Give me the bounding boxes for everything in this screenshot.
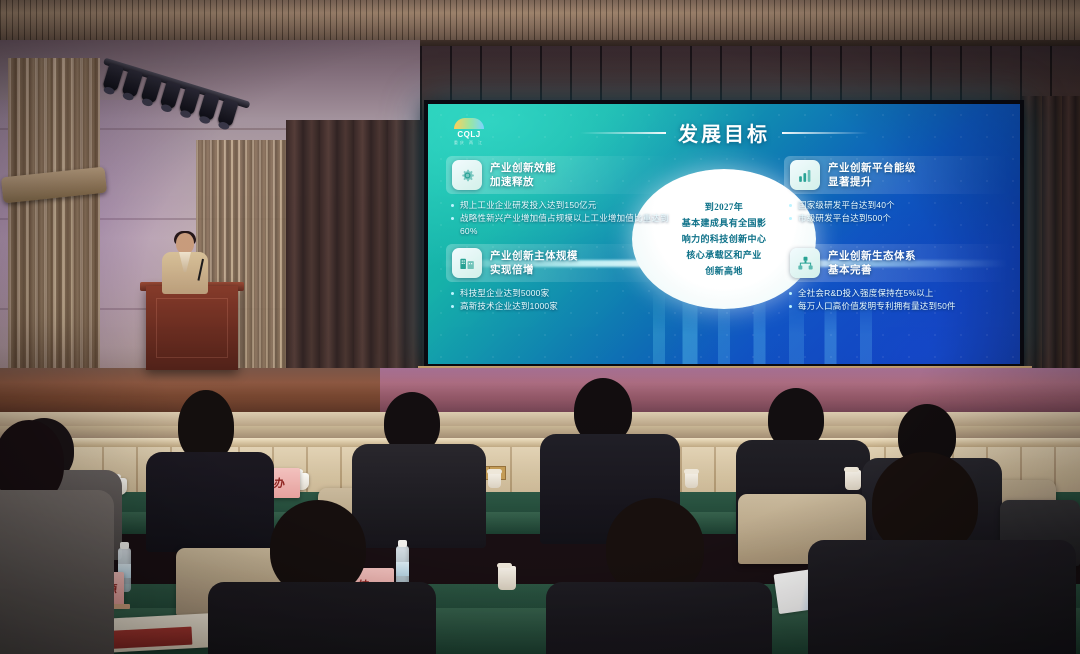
goal-block-2-header: 产业创新主体规模实现倍增 [446,244,670,282]
podium-panel [156,298,228,358]
attendee [560,498,760,654]
goal-block-3-title: 产业创新平台能级显著提升 [828,161,916,189]
attendee-torso [546,582,772,654]
list-item: 市级研发平台达到500个 [788,212,1008,225]
list-item: 规上工业企业研发投入达到150亿元 [450,199,670,212]
cup-lid [684,469,699,474]
cup-lid [497,563,512,568]
dark-drape-right [1022,96,1080,396]
attendee [0,420,120,654]
list-item: 全社会R&D投入强度保持在5%以上 [788,287,1008,300]
gear-icon [452,160,482,190]
speaker-podium [146,286,238,370]
goal-block-2-title: 产业创新主体规模实现倍增 [490,249,578,277]
spotlight-icon [140,75,162,104]
attendee [222,500,422,654]
goal-block-1: 产业创新效能加速释放 规上工业企业研发投入达到150亿元 战略性新兴产业增加值占… [446,156,670,238]
goal-block-1-header: 产业创新效能加速释放 [446,156,670,194]
goal-block-1-bullets: 规上工业企业研发投入达到150亿元 战略性新兴产业增加值占规模以上工业增加值比重… [450,199,670,238]
goal-block-4-header: 产业创新生态体系基本完善 [784,244,1008,282]
page-title: 发展目标 [678,118,770,147]
bar-chart-icon [790,160,820,190]
list-item: 高新技术企业达到1000家 [450,300,670,313]
led-presentation-screen: CQLJ 重庆 两 江 发展目标 到2027年基本建成具有全国影响力的科技创新中… [424,100,1024,368]
attendee [828,452,1058,654]
list-item: 科技型企业达到5000家 [450,287,670,300]
list-item: 每万人口高价值发明专利拥有量达到50件 [788,300,1008,313]
goal-block-3: 产业创新平台能级显著提升 国家级研发平台达到40个 市级研发平台达到500个 [784,156,1008,225]
curtain-folds [8,58,100,388]
stage-curtain-left [8,58,100,388]
goal-block-2: 产业创新主体规模实现倍增 科技型企业达到5000家 高新技术企业达到1000家 [446,244,670,313]
goal-block-1-title: 产业创新效能加速释放 [490,161,556,189]
center-statement-text: 到2027年基本建成具有全国影响力的科技创新中心核心承载区和产业创新高地 [654,199,794,279]
spotlight-icon [179,87,201,116]
spotlight-icon [102,63,124,92]
list-item: 战略性新兴产业增加值占规模以上工业增加值比重达到60% [450,212,670,238]
paper-cup [488,472,501,488]
spotlight-icon [198,92,220,121]
attendee-torso [808,540,1076,654]
building-grid-icon [452,248,482,278]
presenter-at-podium [162,233,208,291]
network-nodes-icon [790,248,820,278]
cup-lid [487,469,502,474]
paper-cup [498,566,516,590]
goal-block-4-bullets: 全社会R&D投入强度保持在5%以上 每万人口高价值发明专利拥有量达到50件 [788,287,1008,313]
goal-block-4: 产业创新生态体系基本完善 全社会R&D投入强度保持在5%以上 每万人口高价值发明… [784,244,1008,313]
list-item: 国家级研发平台达到40个 [788,199,1008,212]
goal-block-4-title: 产业创新生态体系基本完善 [828,249,916,277]
conference-hall-photo: CQLJ 重庆 两 江 发展目标 到2027年基本建成具有全国影响力的科技创新中… [0,0,1080,654]
spotlight-icon [159,81,181,110]
goal-block-3-bullets: 国家级研发平台达到40个 市级研发平台达到500个 [788,199,1008,225]
goal-block-3-header: 产业创新平台能级显著提升 [784,156,1008,194]
dark-drape-center [286,120,434,372]
slide-surface: CQLJ 重庆 两 江 发展目标 到2027年基本建成具有全国影响力的科技创新中… [428,104,1020,364]
attendee-torso [208,582,436,654]
attendee-torso [0,490,114,654]
title-rule-right [782,132,868,134]
presenter-head [176,233,194,254]
goal-block-2-bullets: 科技型企业达到5000家 高新技术企业达到1000家 [450,287,670,313]
spotlight-icon [121,69,143,98]
title-rule-left [580,132,666,134]
slide-title-row: 发展目标 [428,118,1020,147]
bottle-cap [120,542,129,549]
paper-cup [685,472,698,488]
